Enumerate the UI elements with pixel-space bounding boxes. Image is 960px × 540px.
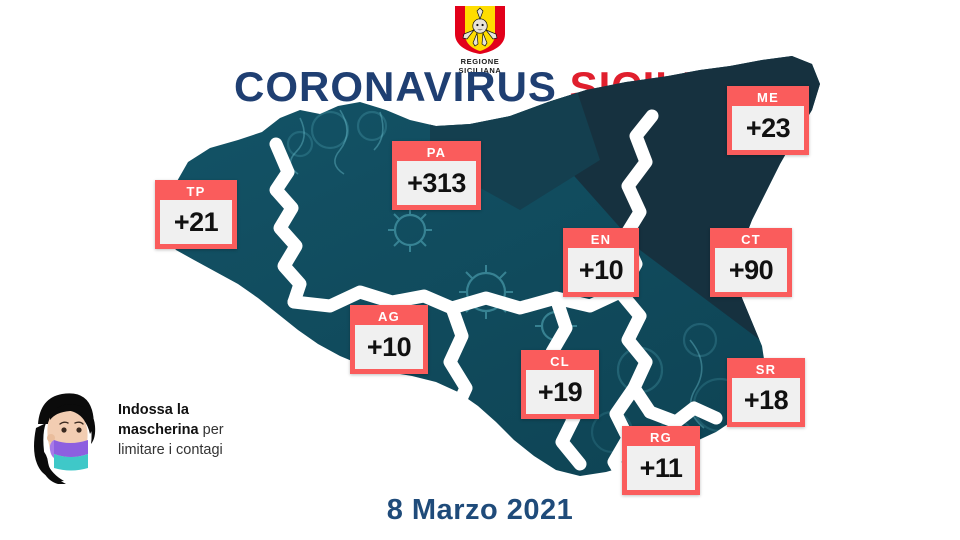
province-code: CL [526,354,594,370]
province-code: ME [732,90,804,106]
province-box-rg[interactable]: RG +11 [622,426,700,495]
woman-wearing-mask-icon [18,388,110,484]
province-code: AG [355,309,423,325]
province-box-en[interactable]: EN +10 [563,228,639,297]
mask-reminder-text: Indossa la mascherina per limitare i con… [118,400,268,460]
mask-text-line3: limitare i contagi [118,442,223,458]
province-value: +11 [627,446,695,490]
province-code: CT [715,232,787,248]
province-value: +18 [732,378,800,422]
province-box-pa[interactable]: PA +313 [392,141,481,210]
province-code: SR [732,362,800,378]
province-box-ct[interactable]: CT +90 [710,228,792,297]
mask-text-line1: Indossa la [118,402,189,418]
mask-text-line2-light: per [199,422,224,438]
province-code: PA [397,145,476,161]
province-value: +21 [160,200,232,244]
mask-reminder: Indossa la mascherina per limitare i con… [18,388,268,488]
mask-text-line2-bold: mascherina [118,422,199,438]
date-label: 8 Marzo 2021 [0,494,960,527]
province-value: +313 [397,161,476,205]
province-code: RG [627,430,695,446]
province-value: +10 [355,325,423,369]
province-value: +19 [526,370,594,414]
infographic-canvas: REGIONE SICILIANA CORONAVIRUS SICILIA [0,0,960,540]
province-box-me[interactable]: ME +23 [727,86,809,155]
province-box-cl[interactable]: CL +19 [521,350,599,419]
province-code: TP [160,184,232,200]
province-value: +23 [732,106,804,150]
province-value: +10 [568,248,634,292]
province-code: EN [568,232,634,248]
province-box-tp[interactable]: TP +21 [155,180,237,249]
province-value: +90 [715,248,787,292]
province-box-ag[interactable]: AG +10 [350,305,428,374]
province-box-sr[interactable]: SR +18 [727,358,805,427]
